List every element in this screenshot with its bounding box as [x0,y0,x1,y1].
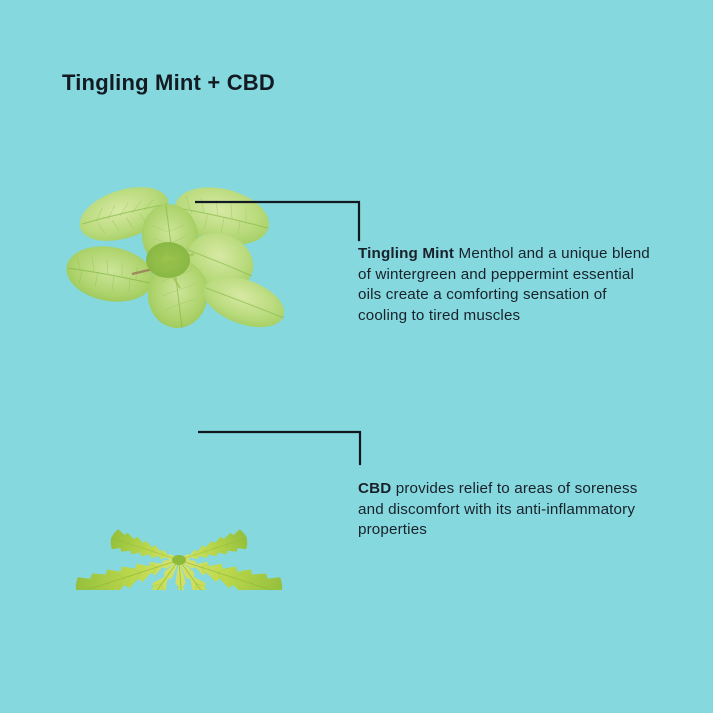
cannabis-leaf-illustration [55,392,303,590]
product-ingredient-infographic: Tingling Mint + CBD [0,0,713,713]
cbd-callout-text: CBD provides relief to areas of soreness… [358,479,658,541]
mint-callout-lead: Tingling Mint [358,245,454,262]
cbd-callout-body: provides relief to areas of soreness and… [358,480,638,538]
page-title: Tingling Mint + CBD [62,70,275,96]
mint-sprig-illustration [62,168,298,340]
mint-callout-text: Tingling Mint Menthol and a unique blend… [358,244,658,326]
cbd-callout-lead: CBD [358,480,391,497]
